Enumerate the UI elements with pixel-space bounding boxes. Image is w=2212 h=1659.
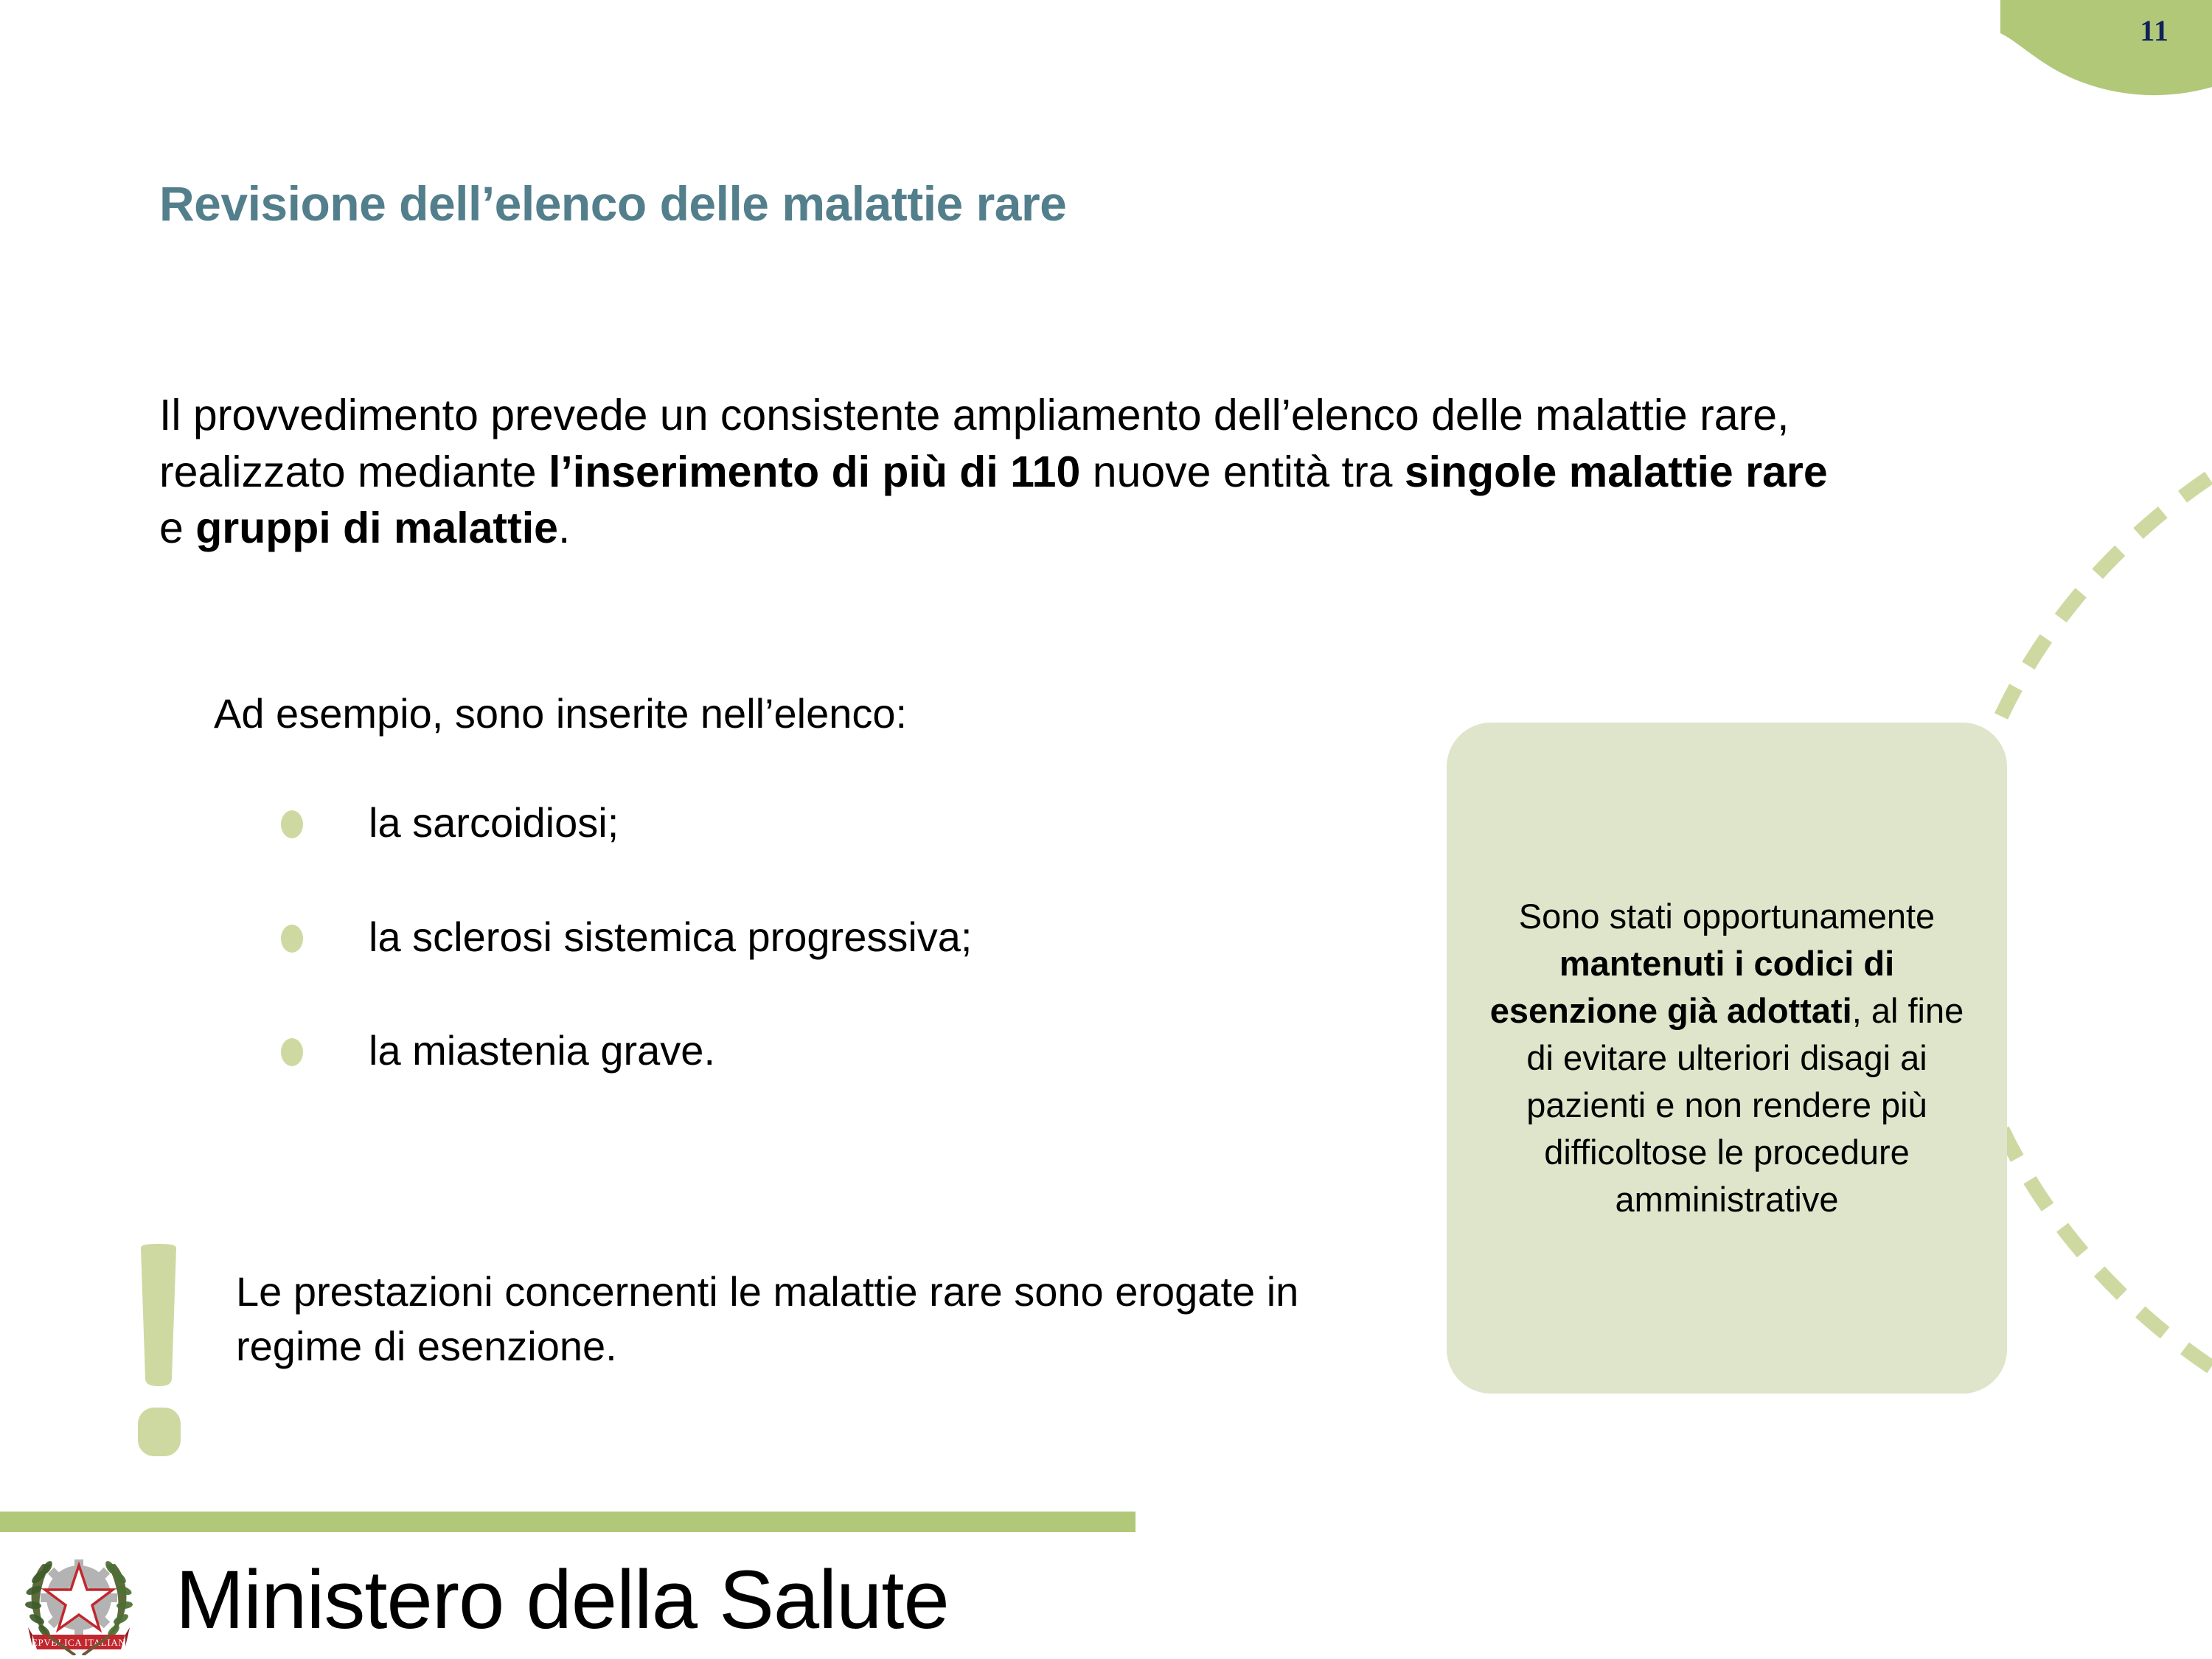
page-title: Revisione dell’elenco delle malattie rar… [159, 175, 1066, 232]
list-item-label: la miastenia grave. [369, 1027, 715, 1074]
page-number: 11 [2140, 16, 2169, 46]
bullet-dot-icon [281, 810, 303, 838]
list-item: la sclerosi sistemica progressiva; [276, 914, 1382, 960]
list-item: la miastenia grave. [276, 1028, 1382, 1074]
intro-text-2: nuove entità tra [1080, 448, 1405, 496]
intro-bold-3: gruppi di malattie [195, 504, 558, 552]
footer: REPVBLICA ITALIANA Ministero della Salut… [0, 1541, 1253, 1659]
footer-accent-bar [0, 1512, 1135, 1532]
intro-bold-2: singole malattie rare [1405, 448, 1828, 496]
intro-text-4: . [558, 504, 570, 552]
callout-text-1: Sono stati opportunamente [1519, 897, 1935, 936]
disease-bullet-list: la sarcoidiosi; la sclerosi sistemica pr… [276, 800, 1382, 1142]
exemption-note: Le prestazioni concernenti le malattie r… [129, 1265, 1427, 1374]
bullet-dot-icon [281, 1038, 303, 1066]
exclamation-mark-icon [129, 1244, 188, 1465]
info-callout-text: Sono stati opportunamente mantenuti i co… [1481, 893, 1973, 1222]
footer-title: Ministero della Salute [175, 1559, 949, 1641]
list-item: la sarcoidiosi; [276, 800, 1382, 846]
list-item-label: la sarcoidiosi; [369, 799, 619, 846]
intro-bold-1: l’inserimento di più di 110 [549, 448, 1080, 496]
bullet-dot-icon [281, 925, 303, 953]
emblem-ribbon-text: REPVBLICA ITALIANA [25, 1637, 133, 1648]
list-item-label: la sclerosi sistemica progressiva; [369, 914, 972, 960]
intro-paragraph: Il provvedimento prevede un consistente … [159, 387, 1848, 557]
intro-text-3: e [159, 504, 195, 552]
callout-bold-1: mantenuti i codici di esenzione già adot… [1490, 944, 1894, 1030]
info-callout-box: Sono stati opportunamente mantenuti i co… [1447, 723, 2007, 1394]
exemption-note-text: Le prestazioni concernenti le malattie r… [236, 1265, 1427, 1374]
example-lead-text: Ad esempio, sono inserite nell’elenco: [214, 689, 907, 737]
italian-republic-emblem-icon: REPVBLICA ITALIANA [21, 1545, 137, 1655]
